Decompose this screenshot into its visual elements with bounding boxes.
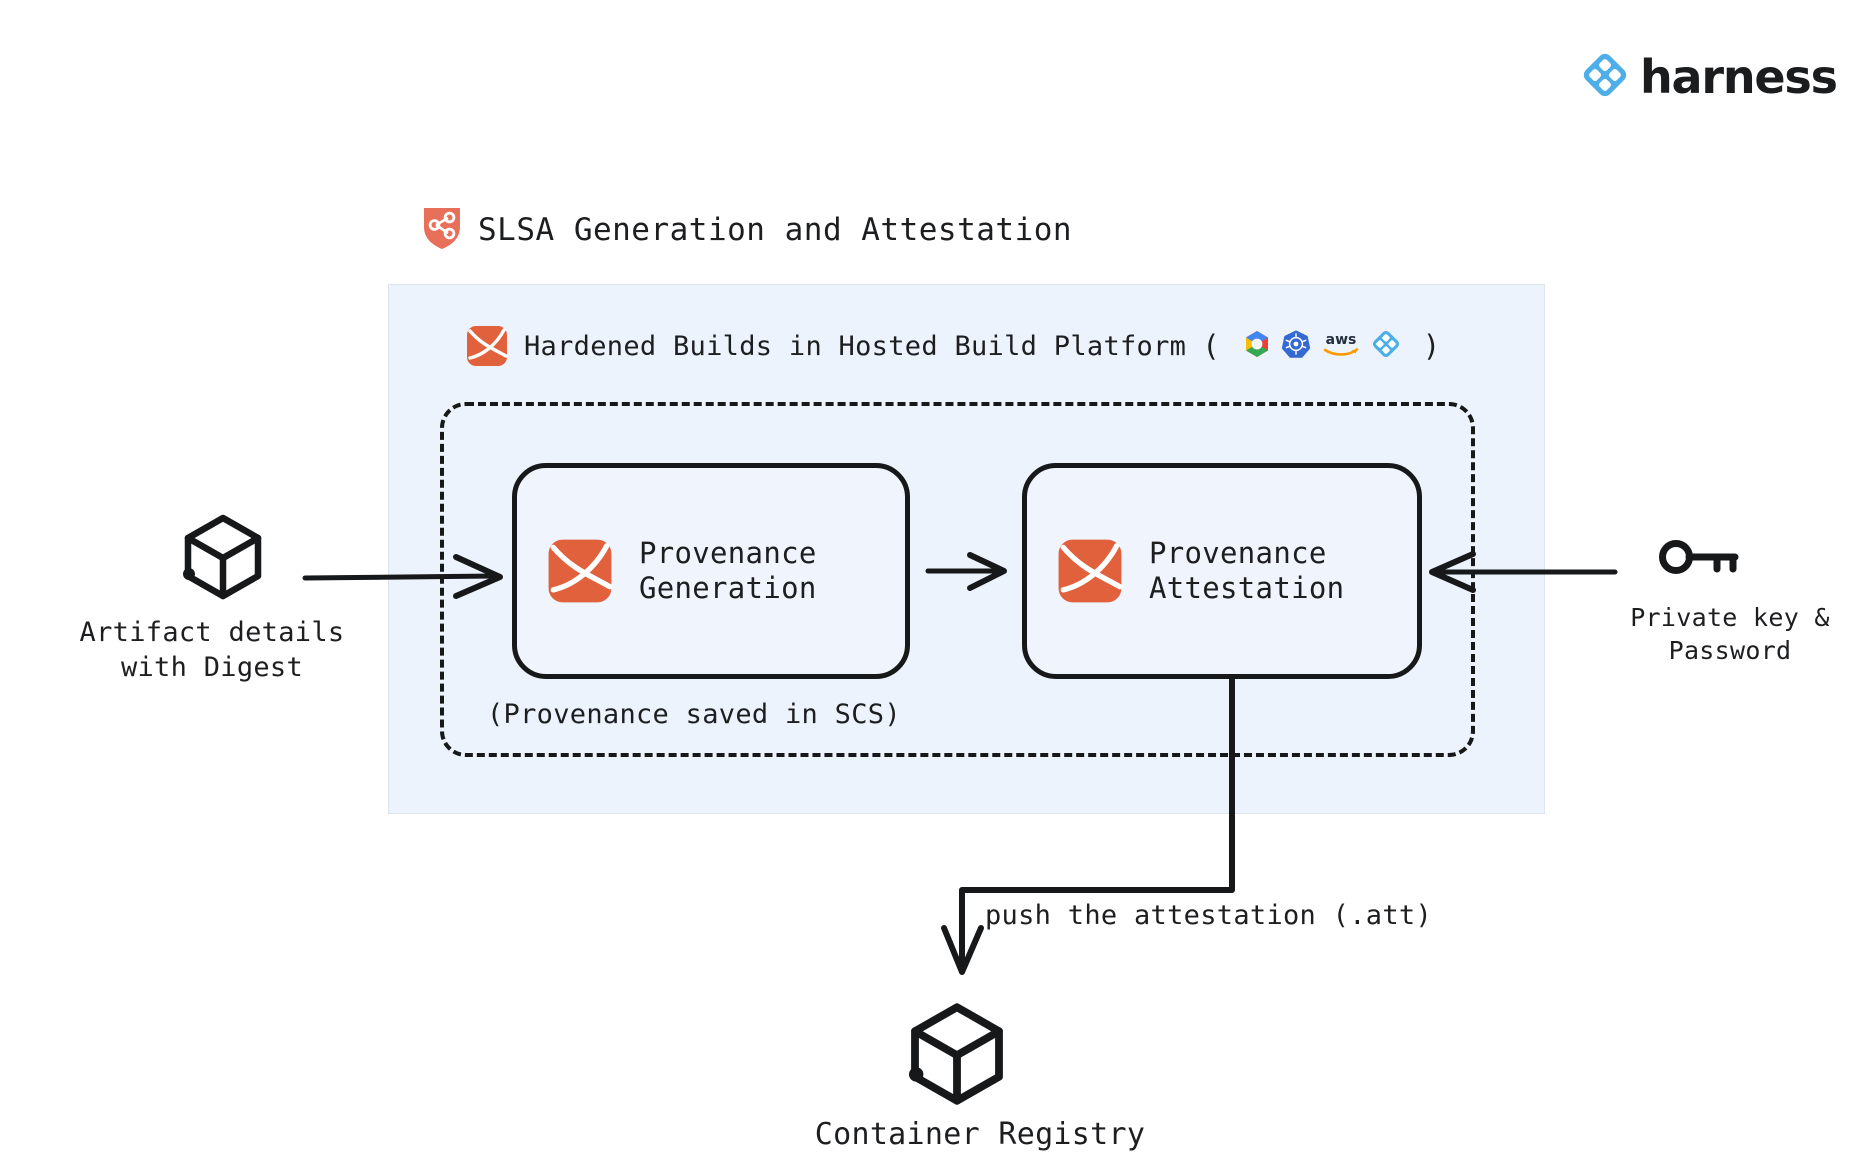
scs-note: (Provenance saved in SCS) (487, 697, 901, 732)
private-key-endpoint-label: Private key & Password (1610, 602, 1850, 667)
aws-icon: aws (1320, 329, 1362, 363)
google-cloud-icon (1242, 329, 1272, 363)
harness-product-icon (1057, 538, 1123, 604)
kubernetes-icon (1281, 329, 1311, 363)
artifact-endpoint-label: Artifact details with Digest (62, 615, 362, 685)
close-paren: ) (1423, 329, 1440, 363)
stage-label: Provenance Attestation (1149, 536, 1344, 607)
harness-product-icon (466, 325, 508, 367)
open-paren: ( (1202, 329, 1219, 363)
section-title-text: SLSA Generation and Attestation (478, 212, 1072, 248)
harness-icon (1371, 329, 1401, 363)
cube-icon (905, 1000, 1009, 1112)
stage-provenance-generation[interactable]: Provenance Generation (512, 463, 910, 679)
harness-wordmark: harness (1640, 54, 1837, 100)
cube-icon (180, 512, 266, 606)
panel-header: Hardened Builds in Hosted Build Platform… (466, 325, 1440, 367)
stage-provenance-attestation[interactable]: Provenance Attestation (1022, 463, 1422, 679)
container-registry-label: Container Registry (760, 1115, 1200, 1154)
harness-diamond-logo-icon (1580, 50, 1630, 104)
push-attestation-note: push the attestation (.att) (985, 898, 1432, 933)
section-title: SLSA Generation and Attestation (422, 205, 1072, 255)
harness-brand-logo: harness (1580, 50, 1837, 104)
svg-text:aws: aws (1325, 332, 1356, 348)
platform-icon-group: aws (1242, 329, 1401, 363)
key-icon (1655, 538, 1745, 586)
slsa-shield-icon (422, 205, 462, 255)
stage-label: Provenance Generation (639, 536, 817, 607)
harness-product-icon (547, 538, 613, 604)
panel-header-text: Hardened Builds in Hosted Build Platform (524, 331, 1186, 362)
